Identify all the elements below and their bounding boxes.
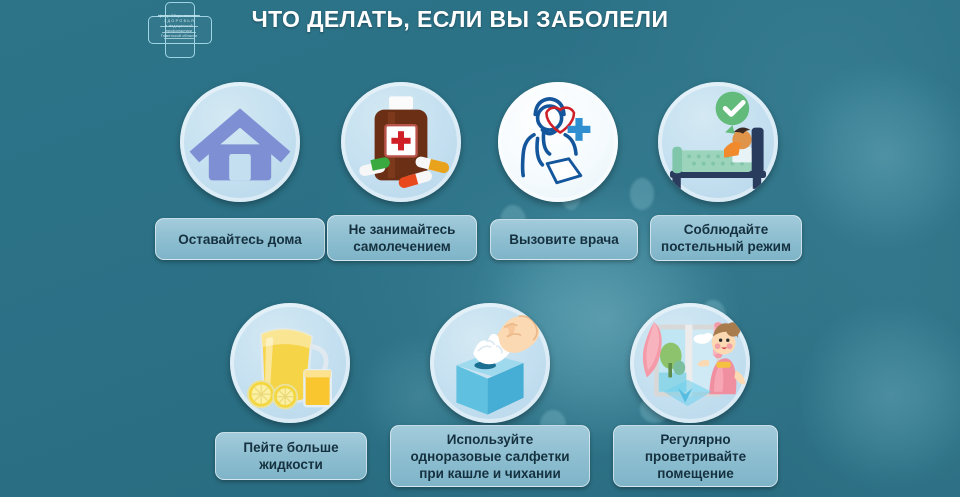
logo-line-4: Тюменской области bbox=[157, 34, 201, 39]
doctor-icon bbox=[498, 82, 618, 202]
card-label-line: самолечением bbox=[353, 239, 451, 254]
card-label-text: Регулярно проветривайте помещение bbox=[645, 431, 746, 482]
poster-header: Центр Общественного З Д О Р О В Ь Я и ме… bbox=[0, 0, 960, 62]
icon-circle bbox=[341, 82, 461, 202]
virus-particle-right bbox=[790, 60, 960, 250]
card-label: Не занимайтесь самолечением bbox=[327, 215, 477, 261]
card-label: Соблюдайте постельный режим bbox=[650, 215, 802, 261]
card-label-line: Не занимайтесь bbox=[349, 222, 456, 237]
icon-circle bbox=[658, 82, 778, 202]
card-label-text: Пейте больше жидкости bbox=[243, 439, 338, 473]
card-label-line: жидкости bbox=[259, 457, 323, 472]
icon-circle bbox=[180, 82, 300, 202]
card-label-line: одноразовые салфетки bbox=[410, 449, 569, 464]
card-label-line: Регулярно bbox=[660, 432, 730, 447]
card-label-text: Не занимайтесь самолечением bbox=[349, 221, 456, 255]
virus-particle-bottom-right bbox=[800, 300, 960, 490]
card-label: Регулярно проветривайте помещение bbox=[613, 425, 778, 487]
card-label-text: Используйте одноразовые салфетки при каш… bbox=[410, 431, 569, 482]
virus-spike bbox=[630, 178, 654, 210]
medical-cross-logo-icon: Центр Общественного З Д О Р О В Ь Я и ме… bbox=[148, 2, 210, 56]
icon-circle bbox=[498, 82, 618, 202]
card-label-text: Соблюдайте постельный режим bbox=[661, 221, 791, 255]
tissue-box-icon bbox=[430, 303, 550, 423]
card-label-line: постельный режим bbox=[661, 239, 791, 254]
lemonade-pitcher-icon bbox=[230, 303, 350, 423]
medicine-bottle-icon bbox=[341, 82, 461, 202]
card-label: Пейте больше жидкости bbox=[215, 432, 367, 480]
card-label-line: Пейте больше bbox=[243, 440, 338, 455]
card-label: Используйте одноразовые салфетки при каш… bbox=[390, 425, 590, 487]
logo-line-3: и медицинской профилактики bbox=[157, 24, 201, 34]
house-icon bbox=[180, 82, 300, 202]
card-label: Оставайтесь дома bbox=[155, 218, 325, 260]
open-window-icon bbox=[630, 303, 750, 423]
card-label-line: помещение bbox=[657, 466, 734, 481]
card-label-text: Вызовите врача bbox=[509, 231, 618, 248]
infographic-poster: Центр Общественного З Д О Р О В Ь Я и ме… bbox=[0, 0, 960, 497]
page-title: ЧТО ДЕЛАТЬ, ЕСЛИ ВЫ ЗАБОЛЕЛИ bbox=[250, 4, 670, 34]
card-label-line: при кашле и чихании bbox=[419, 466, 561, 481]
icon-circle bbox=[430, 303, 550, 423]
icon-circle bbox=[630, 303, 750, 423]
bed-rest-icon bbox=[658, 82, 778, 202]
card-label-text: Оставайтесь дома bbox=[178, 231, 302, 248]
card-label: Вызовите врача bbox=[490, 219, 638, 260]
card-label-line: Используйте bbox=[447, 432, 533, 447]
card-label-line: Соблюдайте bbox=[684, 222, 768, 237]
icon-circle bbox=[230, 303, 350, 423]
card-label-line: проветривайте bbox=[645, 449, 746, 464]
